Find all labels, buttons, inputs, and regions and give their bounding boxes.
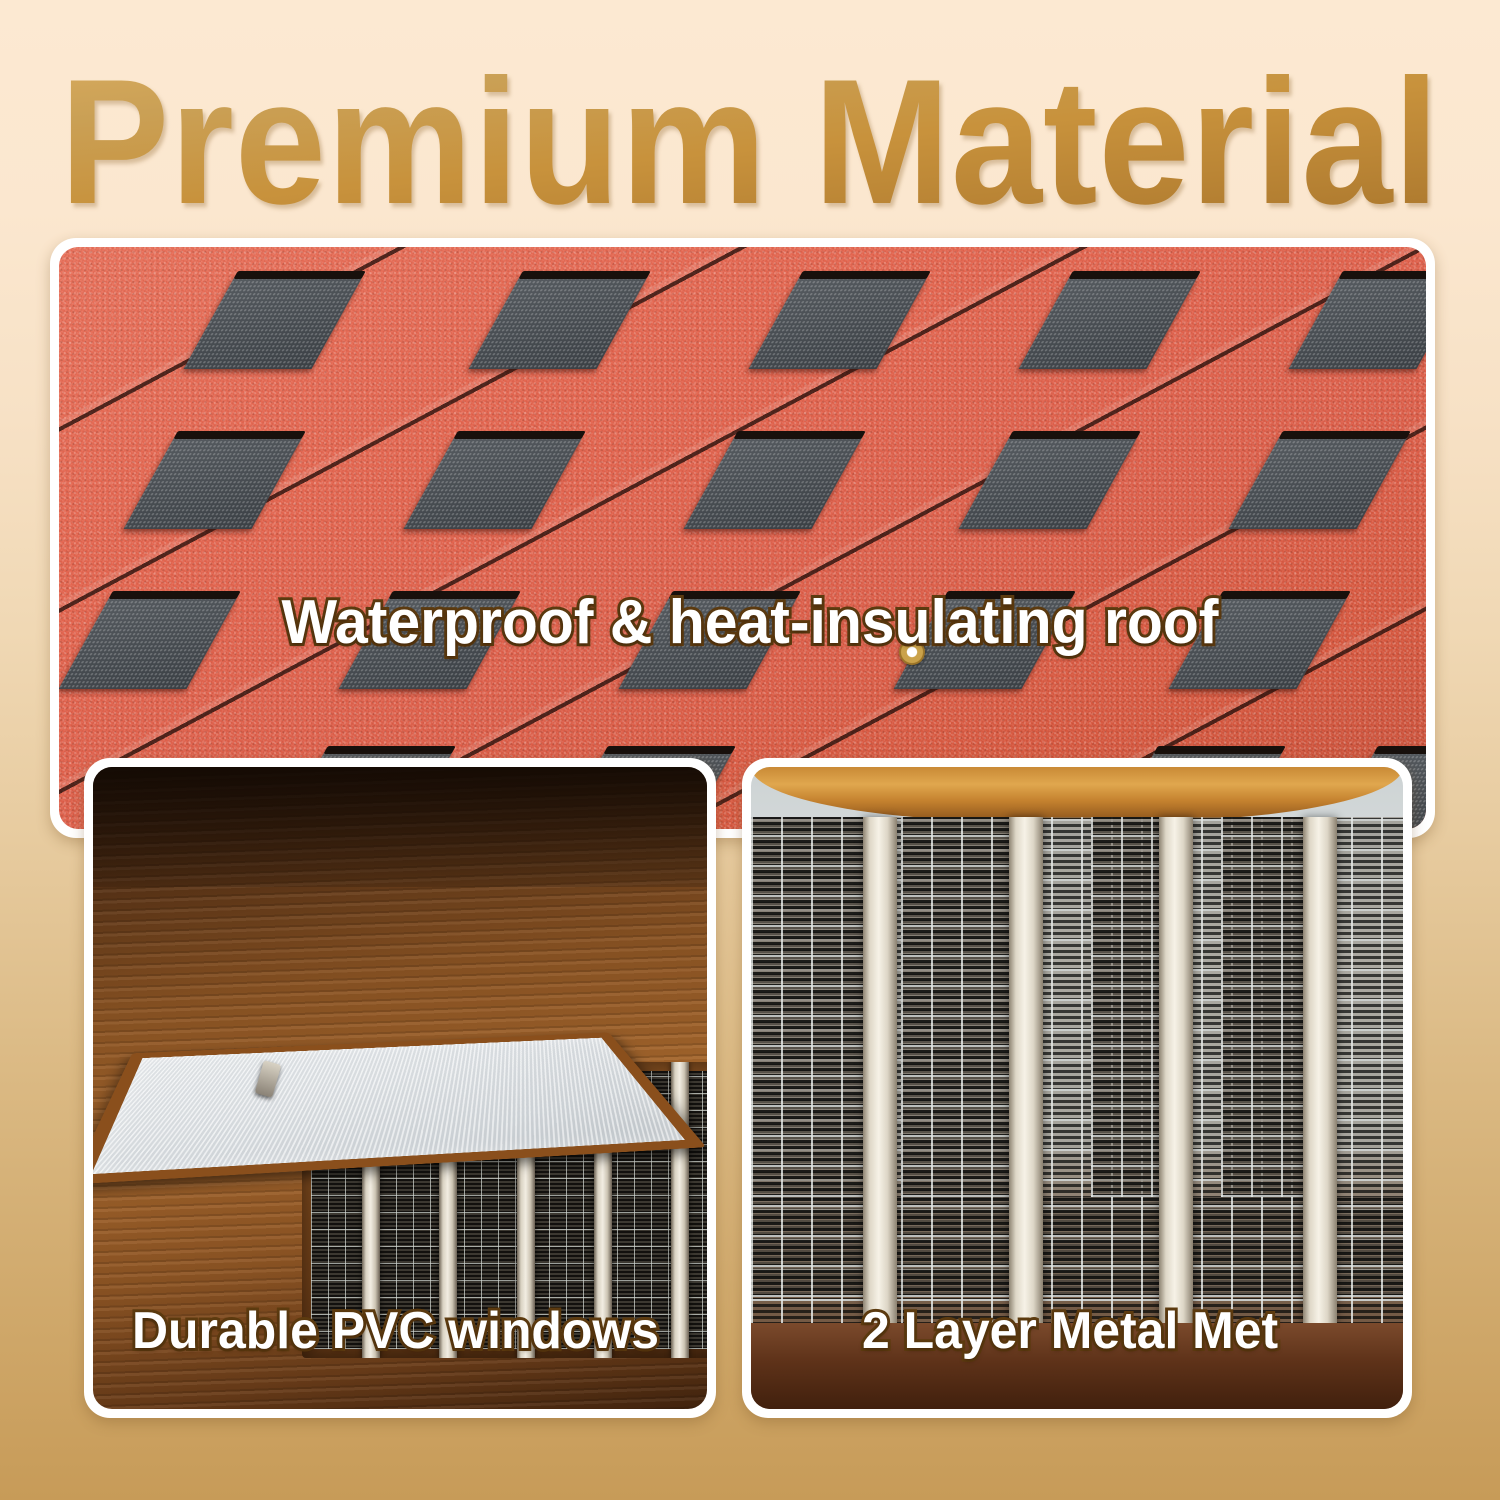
vertical-metal-bar	[1159, 817, 1193, 1331]
vertical-metal-bar	[1303, 817, 1337, 1331]
second-mesh-layer	[1221, 817, 1311, 1197]
pvc-caption: Durable PVC windows	[132, 1305, 659, 1357]
second-mesh-layer	[751, 817, 881, 1197]
roof-feature-panel	[50, 238, 1435, 838]
vertical-metal-bar	[863, 817, 897, 1331]
page-title: Premium Material	[60, 53, 1440, 231]
mesh-caption: 2 Layer Metal Met	[862, 1305, 1278, 1357]
page-title-container: Premium Material	[0, 52, 1500, 232]
roof-image	[59, 247, 1426, 829]
vertical-metal-bar	[1009, 817, 1043, 1331]
overhang-shadow	[93, 767, 707, 887]
second-mesh-layer	[901, 817, 1021, 1197]
window-bar	[671, 1062, 689, 1357]
roof-caption: Waterproof & heat-insulating roof	[282, 592, 1219, 654]
